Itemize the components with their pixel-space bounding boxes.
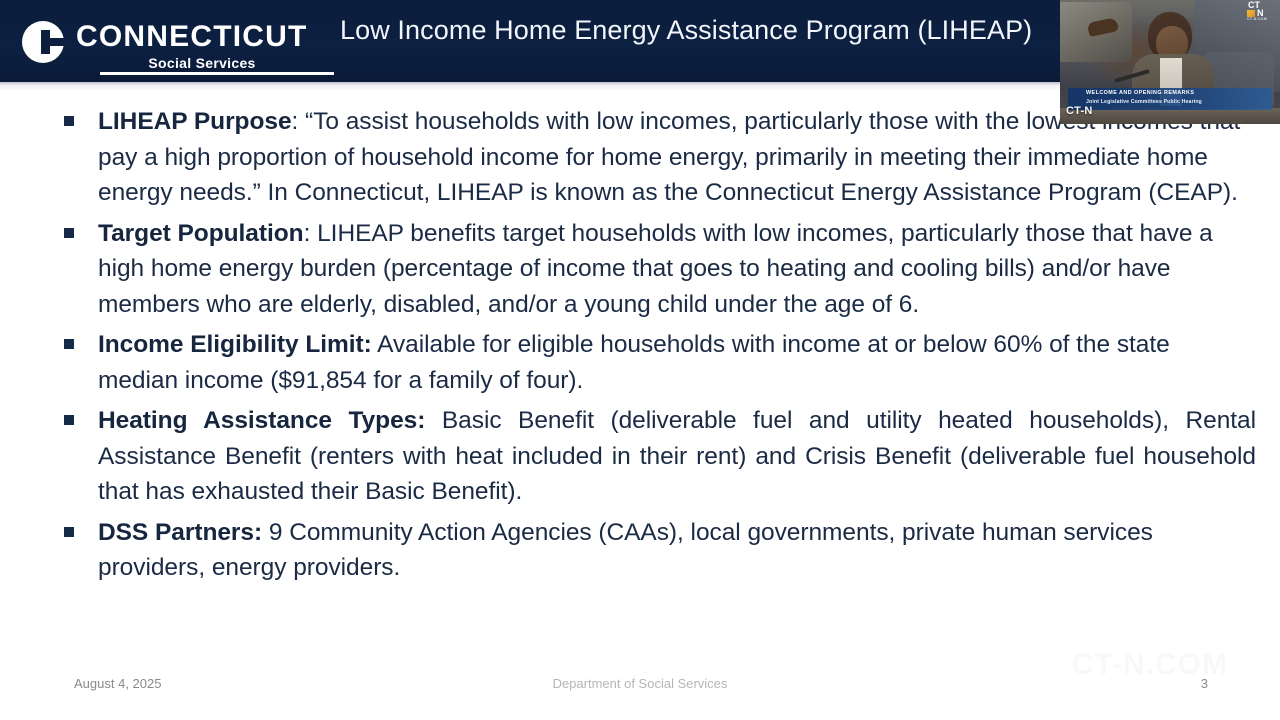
bullet-text-heating-assistance-types: Heating Assistance Types: Basic Benefit … [98, 403, 1256, 510]
ctn-corner-bug: CT-N [1066, 105, 1092, 117]
bullet-item-income-eligibility-limit: Income Eligibility Limit: Available for … [56, 327, 1256, 398]
slide-body-content: LIHEAP Purpose: “To assist households wi… [56, 104, 1256, 591]
video-lower-third-banner: WELCOME AND OPENING REMARKS Joint Legisl… [1068, 88, 1272, 110]
ctn-network-logo-icon: CT N CT-N.COM [1246, 1, 1276, 22]
square-bullet-icon [56, 515, 98, 537]
bullet-separator [262, 519, 269, 546]
bullet-separator: : [292, 108, 306, 135]
bullet-separator [425, 407, 442, 434]
video-lower-third-subtitle: Joint Legislative Committees Public Hear… [1086, 99, 1202, 105]
connecticut-dss-logo: CONNECTICUT Social Services [22, 14, 322, 70]
presentation-slide: CONNECTICUT Social Services Low Income H… [0, 0, 1280, 720]
square-bullet-icon [56, 327, 98, 349]
bullet-label: Income Eligibility Limit: [98, 331, 372, 358]
bullet-text-target-population: Target Population: LIHEAP benefits targe… [98, 216, 1256, 323]
bullet-label: Target Population [98, 220, 304, 247]
bullet-item-heating-assistance-types: Heating Assistance Types: Basic Benefit … [56, 403, 1256, 510]
video-desk [1060, 108, 1280, 124]
bullet-item-dss-partners: DSS Partners: 9 Community Action Agencie… [56, 515, 1256, 586]
bullet-text-dss-partners: DSS Partners: 9 Community Action Agencie… [98, 515, 1256, 586]
bullet-text-income-eligibility-limit: Income Eligibility Limit: Available for … [98, 327, 1256, 398]
circle-c-logo-icon [22, 21, 64, 63]
logo-department-name: Social Services [76, 56, 328, 70]
ctn-logo-url: CT-N.COM [1247, 17, 1267, 21]
logo-state-name: CONNECTICUT [76, 22, 308, 52]
video-overlay-pip[interactable]: WELCOME AND OPENING REMARKS Joint Legisl… [1060, 0, 1280, 124]
square-bullet-icon [56, 104, 98, 126]
bullet-item-target-population: Target Population: LIHEAP benefits targe… [56, 216, 1256, 323]
bullet-label: LIHEAP Purpose [98, 108, 292, 135]
bullet-label: Heating Assistance Types: [98, 407, 425, 434]
footer-department: Department of Social Services [0, 676, 1280, 691]
bullet-separator: : [304, 220, 318, 247]
square-bullet-icon [56, 216, 98, 238]
ctn-logo-square-icon [1247, 10, 1255, 17]
square-bullet-icon [56, 403, 98, 425]
footer-page-number: 3 [1201, 676, 1208, 691]
video-lower-third-title: WELCOME AND OPENING REMARKS [1086, 90, 1194, 96]
logo-underline-rule [100, 72, 334, 75]
bullet-label: DSS Partners: [98, 519, 262, 546]
